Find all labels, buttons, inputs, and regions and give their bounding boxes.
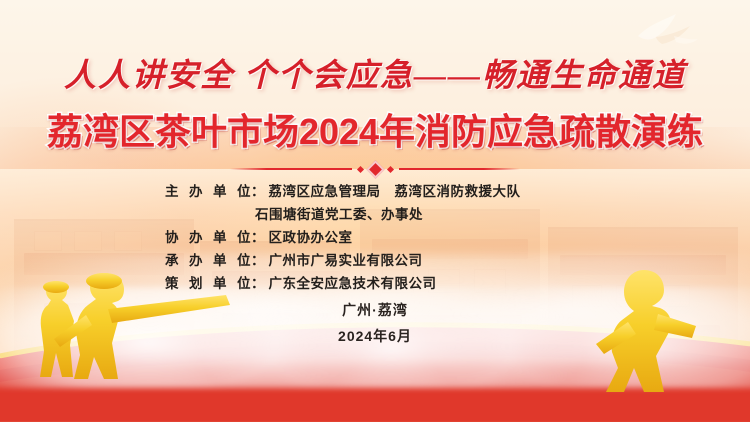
- organizer-value-undertaker: 广州市广易实业有限公司: [269, 249, 423, 269]
- divider-dot-right: [386, 165, 393, 172]
- organizer-row-host-line2: 石围塘街道党工委、办事处: [165, 203, 585, 223]
- organizer-row-undertaker: 承办单位 ： 广州市广易实业有限公司: [165, 249, 585, 269]
- organizer-colon-cohost: ：: [251, 226, 265, 246]
- divider-line-right: [399, 168, 521, 170]
- place-text: 广州·荔湾: [0, 300, 750, 320]
- page-title: 荔湾区茶叶市场2024年消防应急疏散演练: [0, 103, 750, 155]
- divider-line-left: [230, 168, 352, 170]
- date-text: 2024年6月: [0, 326, 750, 346]
- organizer-label-undertaker: 承办单位: [165, 249, 251, 269]
- organizer-value-cohost: 区政协办公室: [269, 226, 353, 246]
- organizer-value-host-line2: 石围塘街道党工委、办事处: [255, 203, 423, 223]
- organizer-colon-planner: ：: [251, 272, 265, 292]
- dove-icon: [620, 6, 710, 56]
- divider-dot-left: [356, 165, 363, 172]
- organizer-value-planner: 广东全安应急技术有限公司: [269, 272, 437, 292]
- organizer-list: 主办单位 ： 荔湾区应急管理局 荔湾区消防救援大队 石围塘街道党工委、办事处 协…: [165, 180, 585, 295]
- organizer-label-cohost: 协办单位: [165, 226, 251, 246]
- slogan-headline: 人人讲安全 个个会应急——畅通生命通道: [0, 50, 750, 96]
- fire-drill-poster: 人人讲安全 个个会应急——畅通生命通道 荔湾区茶叶市场2024年消防应急疏散演练…: [0, 0, 750, 422]
- organizer-value-host: 荔湾区应急管理局 荔湾区消防救援大队: [269, 180, 521, 200]
- organizer-colon-undertaker: ：: [251, 249, 265, 269]
- diamond-ornament-icon: [366, 160, 384, 178]
- decorative-divider: [230, 160, 520, 178]
- organizer-row-host: 主办单位 ： 荔湾区应急管理局 荔湾区消防救援大队: [165, 180, 585, 200]
- place-date-block: 广州·荔湾 2024年6月: [0, 300, 750, 346]
- organizer-colon-host: ：: [251, 180, 265, 200]
- organizer-label-host: 主办单位: [165, 180, 251, 200]
- organizer-row-planner: 策划单位 ： 广东全安应急技术有限公司: [165, 272, 585, 292]
- organizer-row-cohost: 协办单位 ： 区政协办公室: [165, 226, 585, 246]
- organizer-label-planner: 策划单位: [165, 272, 251, 292]
